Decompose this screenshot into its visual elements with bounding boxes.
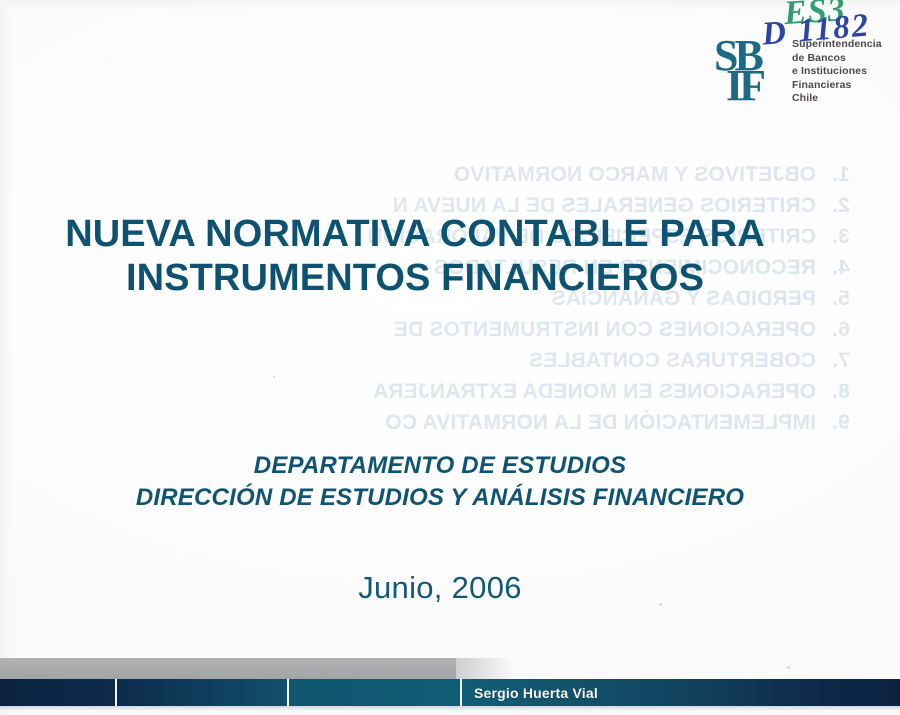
footer-segment-2 [115, 679, 287, 706]
logo-name-line: Superintendencia [792, 38, 884, 52]
slide-title-line: NUEVA NORMATIVA CONTABLE PARA [0, 212, 830, 256]
logo-mark-bottom: IF [726, 66, 762, 106]
scanned-slide-page: 1. OBJETIVOS Y MARCO NORMATIVO 2. CRITER… [0, 0, 900, 715]
slide-date: Junio, 2006 [0, 570, 880, 606]
logo-name-line: e Instituciones [792, 65, 884, 79]
sbif-logo: SB IF Superintendencia de Bancos e Insti… [712, 36, 884, 112]
footer-scan-shadow [0, 706, 900, 711]
footer-segment-1 [0, 679, 115, 706]
footer-presenter-name: Sergio Huerta Vial [462, 685, 598, 701]
sbif-logo-wordmark: Superintendencia de Bancos e Institucion… [792, 38, 884, 106]
slide-title: NUEVA NORMATIVA CONTABLE PARA INSTRUMENT… [0, 212, 830, 300]
sbif-logo-icon: SB IF [712, 36, 786, 106]
footer-segment-3 [287, 679, 460, 706]
logo-name-line: de Bancos [792, 52, 884, 66]
slide-title-line: INSTRUMENTOS FINANCIEROS [0, 256, 830, 300]
slide-subtitle-line: DIRECCIÓN DE ESTUDIOS Y ANÁLISIS FINANCI… [0, 482, 880, 514]
logo-name-line: Chile [792, 92, 884, 106]
footer-gray-band-fade [456, 658, 514, 679]
slide-subtitle: DEPARTAMENTO DE ESTUDIOS DIRECCIÓN DE ES… [0, 450, 880, 514]
scan-edge-top [0, 0, 900, 10]
footer-segment-4: Sergio Huerta Vial [460, 679, 900, 706]
scan-speck [273, 376, 275, 378]
logo-name-line: Financieras [792, 79, 884, 93]
slide-subtitle-line: DEPARTAMENTO DE ESTUDIOS [0, 450, 880, 482]
footer-gray-band [0, 658, 456, 679]
scan-speck [787, 666, 790, 669]
footer-color-bar: Sergio Huerta Vial [0, 679, 900, 706]
scan-edge-left [0, 0, 14, 715]
